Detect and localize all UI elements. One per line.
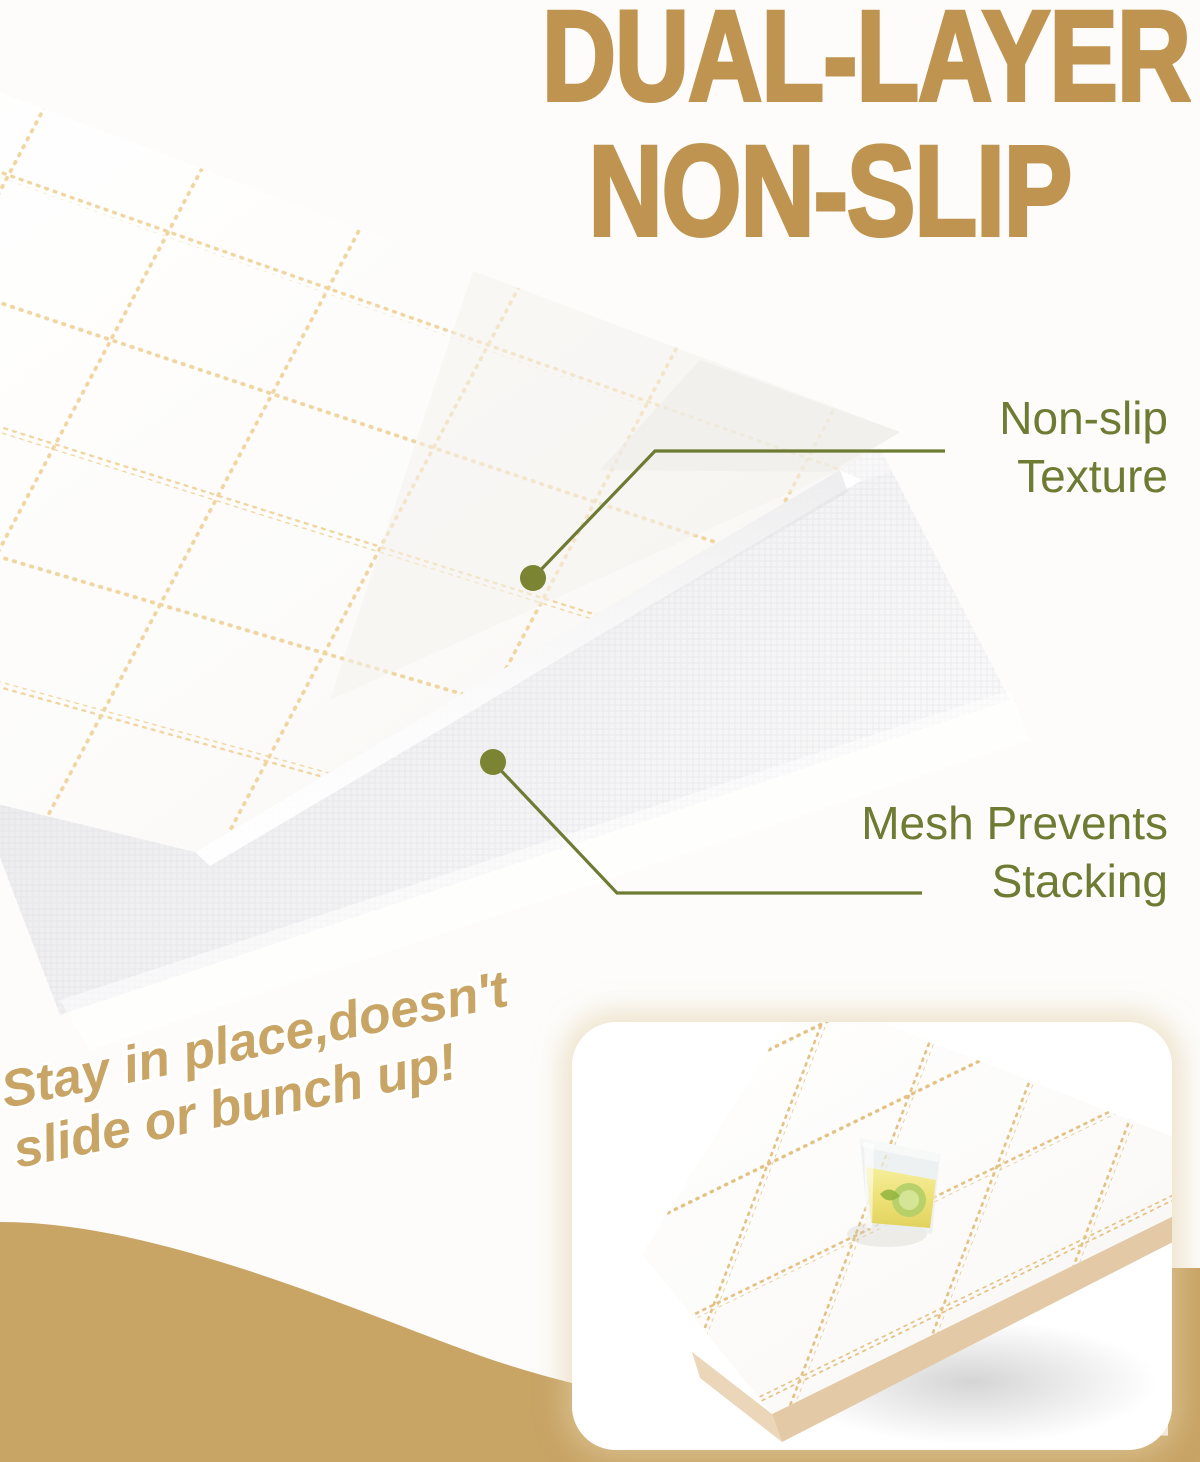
lime-slice-inner: [899, 1190, 919, 1210]
page-title: DUAL-LAYER NON-SLIP: [542, 0, 1118, 255]
headline-line-1: DUAL-LAYER: [542, 0, 1118, 119]
callout-label-non-slip-texture: Non-slip Texture: [708, 390, 1168, 506]
bottom-gold-band-right: [1168, 1268, 1200, 1462]
callout-dot-non-slip-texture: [520, 565, 546, 591]
callout-dot-mesh-prevents-stacking: [480, 749, 506, 775]
infographic-canvas: DUAL-LAYER NON-SLIP Non-slip Texture Mes…: [0, 0, 1200, 1462]
headline-line-2: NON-SLIP: [542, 129, 1118, 254]
inset-photo: [572, 1022, 1172, 1450]
inset-photo-card: [572, 1022, 1172, 1450]
callout-label-mesh-prevents-stacking: Mesh Prevents Stacking: [648, 795, 1168, 911]
